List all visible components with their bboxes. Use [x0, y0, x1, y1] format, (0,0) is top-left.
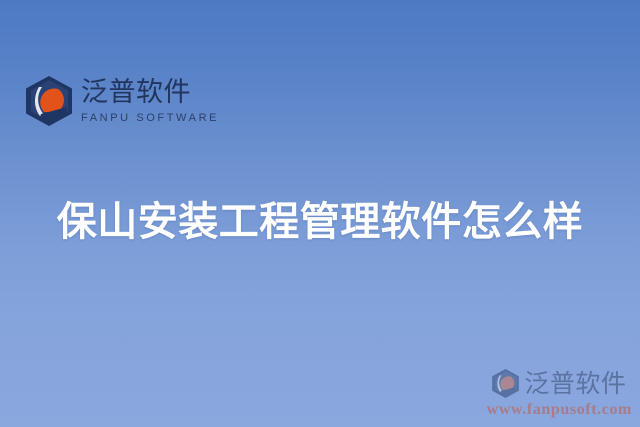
- watermark: 泛普软件 www.fanpusoft.com: [487, 369, 632, 419]
- brand-wordmark: 泛普软件 FANPU SOFTWARE: [81, 77, 219, 125]
- watermark-name-cn: 泛普软件: [524, 371, 626, 396]
- brand-logo: 泛普软件 FANPU SOFTWARE: [26, 76, 219, 126]
- promo-banner: 泛普软件 FANPU SOFTWARE 保山安装工程管理软件怎么样 泛普软件 w…: [0, 0, 640, 427]
- fanpu-hexagon-logo-icon: [26, 76, 72, 126]
- watermark-url: www.fanpusoft.com: [487, 401, 632, 419]
- watermark-logo-row: 泛普软件: [492, 369, 626, 398]
- banner-headline: 保山安装工程管理软件怎么样: [0, 196, 640, 248]
- brand-name-cn: 泛普软件: [81, 79, 219, 107]
- brand-name-en: FANPU SOFTWARE: [81, 112, 219, 125]
- fanpu-hexagon-logo-icon: [492, 369, 519, 398]
